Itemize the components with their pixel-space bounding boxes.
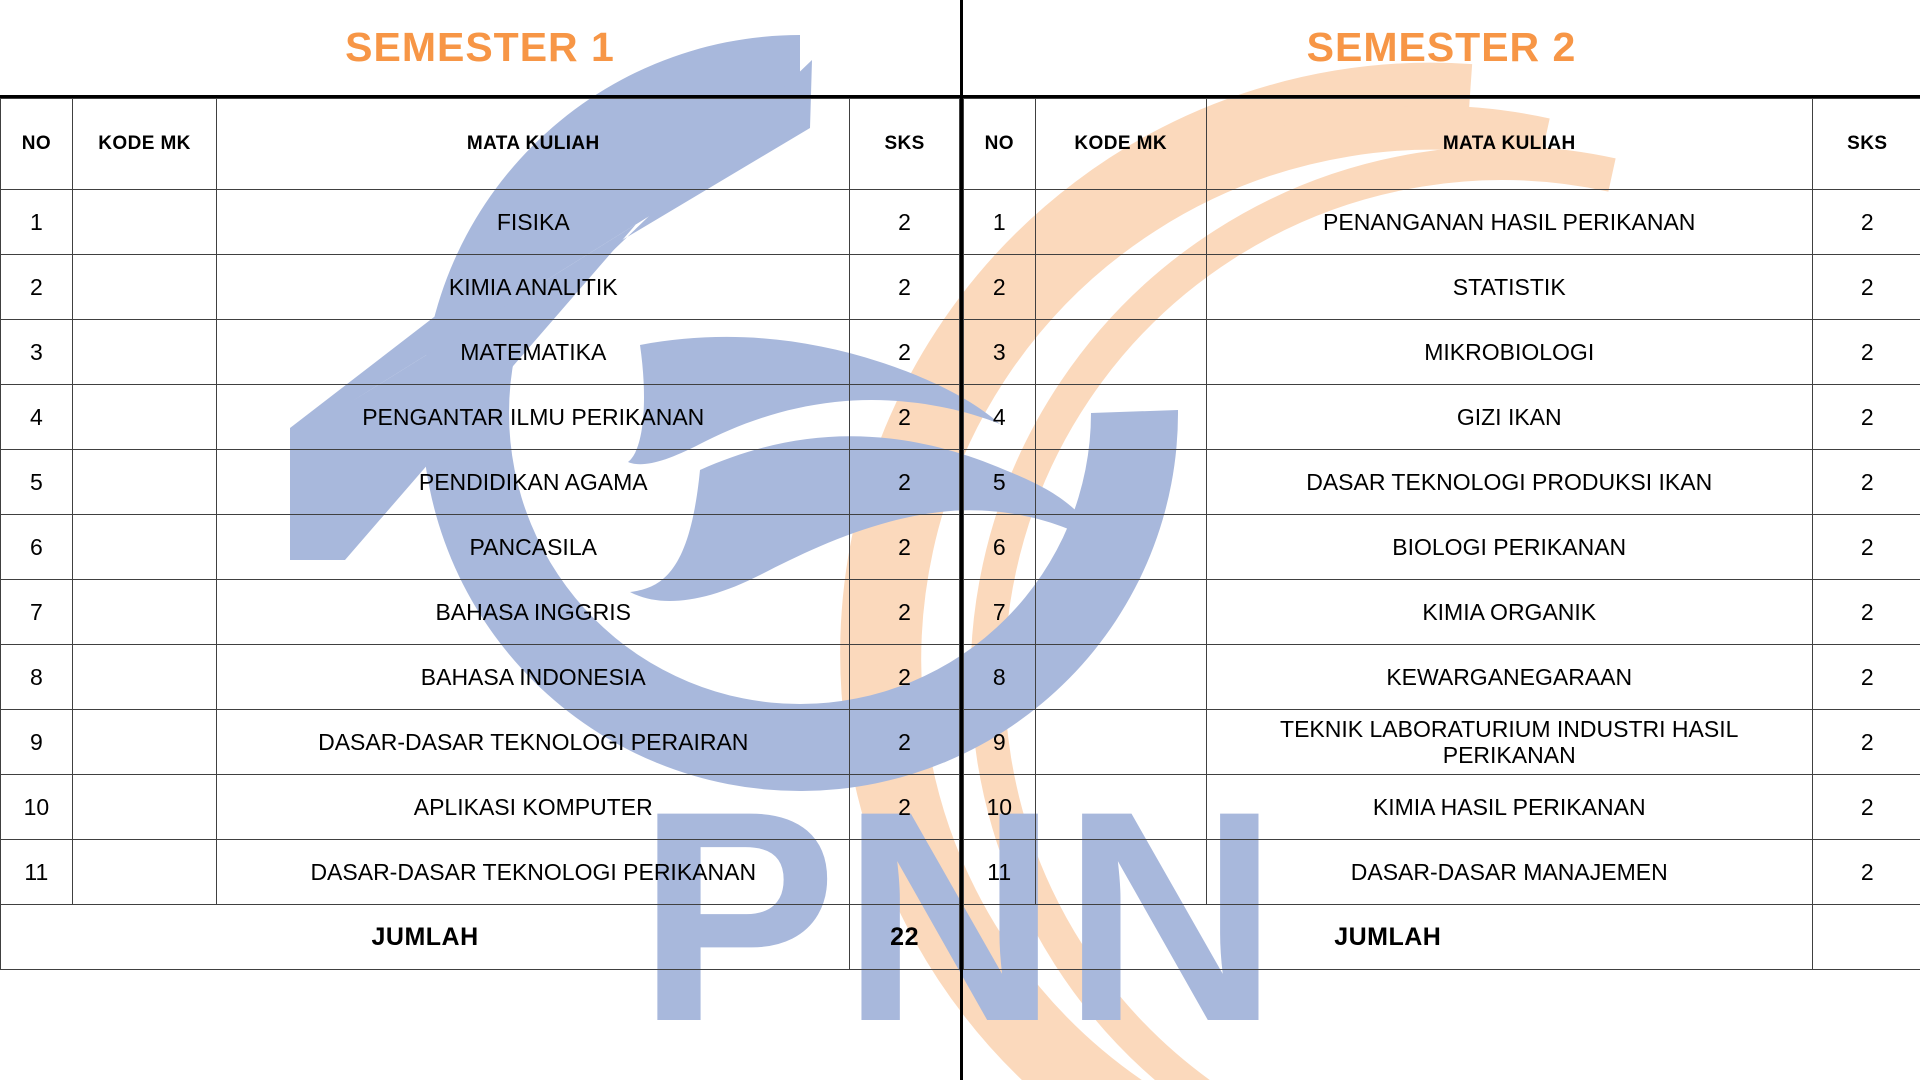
cell-no: 3 bbox=[964, 320, 1036, 385]
cell-kode bbox=[1035, 515, 1206, 580]
table-row: 3 MIKROBIOLOGI 2 bbox=[964, 320, 1920, 385]
table-row: 1 FISIKA 2 bbox=[1, 190, 960, 255]
cell-sks: 2 bbox=[1812, 515, 1920, 580]
cell-kode bbox=[1035, 190, 1206, 255]
cell-mata-kuliah: STATISTIK bbox=[1206, 255, 1812, 320]
table-row: 6 PANCASILA 2 bbox=[1, 515, 960, 580]
header-kode-mk: KODE MK bbox=[1035, 99, 1206, 190]
cell-mata-kuliah: DASAR-DASAR MANAJEMEN bbox=[1206, 840, 1812, 905]
table-row: 4 PENGANTAR ILMU PERIKANAN 2 bbox=[1, 385, 960, 450]
semester-2-title-row: SEMESTER 2 bbox=[963, 0, 1920, 98]
cell-mata-kuliah: DASAR-DASAR TEKNOLOGI PERAIRAN bbox=[217, 710, 850, 775]
cell-kode bbox=[1035, 775, 1206, 840]
table-row: 11 DASAR-DASAR MANAJEMEN 2 bbox=[964, 840, 1920, 905]
cell-no: 1 bbox=[1, 190, 73, 255]
cell-mata-kuliah: FISIKA bbox=[217, 190, 850, 255]
header-no: NO bbox=[1, 99, 73, 190]
cell-mata-kuliah: PENGANTAR ILMU PERIKANAN bbox=[217, 385, 850, 450]
total-label: JUMLAH bbox=[964, 905, 1813, 970]
header-sks: SKS bbox=[850, 99, 960, 190]
table-row: 2 KIMIA ANALITIK 2 bbox=[1, 255, 960, 320]
curriculum-sheet: SEMESTER 1 NO KODE MK MATA KULIAH SKS 1 … bbox=[0, 0, 1920, 1080]
cell-mata-kuliah: MATEMATIKA bbox=[217, 320, 850, 385]
cell-sks bbox=[850, 840, 960, 905]
total-label: JUMLAH bbox=[1, 905, 850, 970]
cell-no: 4 bbox=[964, 385, 1036, 450]
cell-no: 6 bbox=[1, 515, 73, 580]
table-row: 5 PENDIDIKAN AGAMA 2 bbox=[1, 450, 960, 515]
cell-sks: 2 bbox=[850, 450, 960, 515]
cell-sks: 2 bbox=[1812, 775, 1920, 840]
cell-mata-kuliah: KEWARGANEGARAAN bbox=[1206, 645, 1812, 710]
cell-sks: 2 bbox=[1812, 190, 1920, 255]
cell-kode bbox=[72, 190, 217, 255]
cell-kode bbox=[72, 320, 217, 385]
semester-1-title-row: SEMESTER 1 bbox=[0, 0, 960, 98]
semester-1-block: SEMESTER 1 NO KODE MK MATA KULIAH SKS 1 … bbox=[0, 0, 960, 1080]
cell-kode bbox=[72, 645, 217, 710]
cell-sks: 2 bbox=[850, 320, 960, 385]
semester-2-table: NO KODE MK MATA KULIAH SKS 1 PENANGANAN … bbox=[963, 98, 1920, 970]
cell-no: 5 bbox=[1, 450, 73, 515]
cell-sks: 2 bbox=[850, 710, 960, 775]
cell-kode bbox=[1035, 840, 1206, 905]
cell-no: 8 bbox=[1, 645, 73, 710]
cell-kode bbox=[72, 710, 217, 775]
cell-sks: 2 bbox=[850, 515, 960, 580]
cell-kode bbox=[1035, 710, 1206, 775]
table-row: 2 STATISTIK 2 bbox=[964, 255, 1920, 320]
cell-no: 11 bbox=[964, 840, 1036, 905]
table-total-row: JUMLAH 22 bbox=[1, 905, 960, 970]
table-row: 9 TEKNIK LABORATURIUM INDUSTRI HASIL PER… bbox=[964, 710, 1920, 775]
cell-sks: 2 bbox=[850, 255, 960, 320]
cell-sks: 2 bbox=[850, 385, 960, 450]
table-row: 11 DASAR-DASAR TEKNOLOGI PERIKANAN bbox=[1, 840, 960, 905]
cell-kode bbox=[72, 385, 217, 450]
semester-1-title: SEMESTER 1 bbox=[345, 24, 615, 71]
header-kode-mk: KODE MK bbox=[72, 99, 217, 190]
table-row: 8 KEWARGANEGARAAN 2 bbox=[964, 645, 1920, 710]
cell-no: 5 bbox=[964, 450, 1036, 515]
cell-kode bbox=[1035, 385, 1206, 450]
cell-kode bbox=[72, 255, 217, 320]
cell-no: 6 bbox=[964, 515, 1036, 580]
cell-no: 7 bbox=[964, 580, 1036, 645]
cell-no: 8 bbox=[964, 645, 1036, 710]
table-row: 7 BAHASA INGGRIS 2 bbox=[1, 580, 960, 645]
semester-1-table: NO KODE MK MATA KULIAH SKS 1 FISIKA 2 2 … bbox=[0, 98, 960, 970]
table-row: 4 GIZI IKAN 2 bbox=[964, 385, 1920, 450]
cell-no: 10 bbox=[1, 775, 73, 840]
table-header-row: NO KODE MK MATA KULIAH SKS bbox=[1, 99, 960, 190]
cell-sks: 2 bbox=[1812, 840, 1920, 905]
cell-mata-kuliah: PENDIDIKAN AGAMA bbox=[217, 450, 850, 515]
cell-mata-kuliah: BAHASA INDONESIA bbox=[217, 645, 850, 710]
table-header-row: NO KODE MK MATA KULIAH SKS bbox=[964, 99, 1920, 190]
cell-mata-kuliah: PENANGANAN HASIL PERIKANAN bbox=[1206, 190, 1812, 255]
table-row: 10 APLIKASI KOMPUTER 2 bbox=[1, 775, 960, 840]
cell-sks: 2 bbox=[1812, 385, 1920, 450]
cell-no: 2 bbox=[964, 255, 1036, 320]
cell-no: 2 bbox=[1, 255, 73, 320]
cell-kode bbox=[72, 450, 217, 515]
cell-mata-kuliah: KIMIA ANALITIK bbox=[217, 255, 850, 320]
cell-mata-kuliah: BAHASA INGGRIS bbox=[217, 580, 850, 645]
cell-sks: 2 bbox=[850, 775, 960, 840]
table-row: 8 BAHASA INDONESIA 2 bbox=[1, 645, 960, 710]
cell-no: 11 bbox=[1, 840, 73, 905]
cell-sks: 2 bbox=[850, 190, 960, 255]
cell-kode bbox=[1035, 320, 1206, 385]
table-row: 10 KIMIA HASIL PERIKANAN 2 bbox=[964, 775, 1920, 840]
cell-sks: 2 bbox=[1812, 320, 1920, 385]
table-row: 7 KIMIA ORGANIK 2 bbox=[964, 580, 1920, 645]
header-mata-kuliah: MATA KULIAH bbox=[1206, 99, 1812, 190]
cell-mata-kuliah: BIOLOGI PERIKANAN bbox=[1206, 515, 1812, 580]
cell-kode bbox=[72, 580, 217, 645]
cell-sks: 2 bbox=[1812, 710, 1920, 775]
header-mata-kuliah: MATA KULIAH bbox=[217, 99, 850, 190]
cell-sks: 2 bbox=[1812, 450, 1920, 515]
table-row: 1 PENANGANAN HASIL PERIKANAN 2 bbox=[964, 190, 1920, 255]
cell-kode bbox=[72, 840, 217, 905]
semester-2-title: SEMESTER 2 bbox=[1307, 24, 1577, 71]
header-no: NO bbox=[964, 99, 1036, 190]
total-sks: 22 bbox=[850, 905, 960, 970]
cell-kode bbox=[72, 775, 217, 840]
cell-kode bbox=[1035, 645, 1206, 710]
cell-mata-kuliah: KIMIA HASIL PERIKANAN bbox=[1206, 775, 1812, 840]
cell-no: 9 bbox=[1, 710, 73, 775]
table-row: 5 DASAR TEKNOLOGI PRODUKSI IKAN 2 bbox=[964, 450, 1920, 515]
cell-mata-kuliah: KIMIA ORGANIK bbox=[1206, 580, 1812, 645]
table-total-row: JUMLAH bbox=[964, 905, 1920, 970]
cell-kode bbox=[1035, 255, 1206, 320]
total-sks bbox=[1812, 905, 1920, 970]
header-sks: SKS bbox=[1812, 99, 1920, 190]
cell-kode bbox=[1035, 450, 1206, 515]
table-row: 9 DASAR-DASAR TEKNOLOGI PERAIRAN 2 bbox=[1, 710, 960, 775]
cell-no: 4 bbox=[1, 385, 73, 450]
cell-no: 1 bbox=[964, 190, 1036, 255]
cell-sks: 2 bbox=[850, 580, 960, 645]
cell-mata-kuliah: APLIKASI KOMPUTER bbox=[217, 775, 850, 840]
cell-kode bbox=[72, 515, 217, 580]
table-row: 6 BIOLOGI PERIKANAN 2 bbox=[964, 515, 1920, 580]
cell-sks: 2 bbox=[1812, 645, 1920, 710]
cell-no: 3 bbox=[1, 320, 73, 385]
cell-mata-kuliah: TEKNIK LABORATURIUM INDUSTRI HASIL PERIK… bbox=[1206, 710, 1812, 775]
cell-sks: 2 bbox=[850, 645, 960, 710]
cell-sks: 2 bbox=[1812, 580, 1920, 645]
cell-sks: 2 bbox=[1812, 255, 1920, 320]
cell-mata-kuliah: GIZI IKAN bbox=[1206, 385, 1812, 450]
semester-2-block: SEMESTER 2 NO KODE MK MATA KULIAH SKS 1 … bbox=[960, 0, 1920, 1080]
cell-mata-kuliah: PANCASILA bbox=[217, 515, 850, 580]
cell-no: 7 bbox=[1, 580, 73, 645]
table-row: 3 MATEMATIKA 2 bbox=[1, 320, 960, 385]
cell-mata-kuliah: MIKROBIOLOGI bbox=[1206, 320, 1812, 385]
cell-no: 9 bbox=[964, 710, 1036, 775]
cell-no: 10 bbox=[964, 775, 1036, 840]
cell-mata-kuliah: DASAR TEKNOLOGI PRODUKSI IKAN bbox=[1206, 450, 1812, 515]
cell-mata-kuliah: DASAR-DASAR TEKNOLOGI PERIKANAN bbox=[217, 840, 850, 905]
cell-kode bbox=[1035, 580, 1206, 645]
